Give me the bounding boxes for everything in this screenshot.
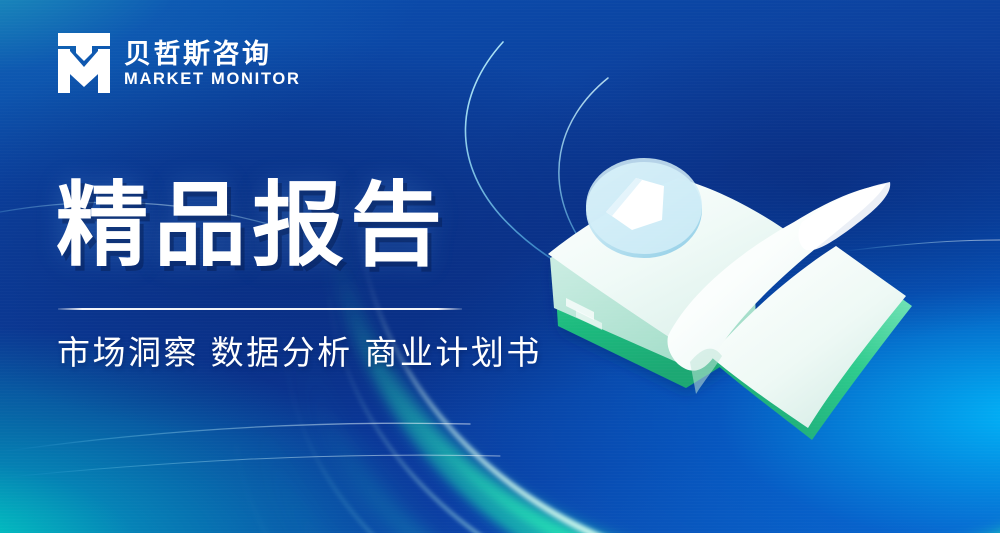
page-title: 精品报告 bbox=[56, 178, 448, 276]
brand-name-en: MARKET MONITOR bbox=[124, 71, 301, 88]
report-banner: 贝哲斯咨询 MARKET MONITOR 精品报告 市场洞察 数据分析 商业计划… bbox=[0, 0, 1000, 533]
brand-name-cn: 贝哲斯咨询 bbox=[124, 40, 301, 68]
brand-logo-text: 贝哲斯咨询 MARKET MONITOR bbox=[124, 38, 301, 89]
brand-logo: 贝哲斯咨询 MARKET MONITOR bbox=[58, 33, 301, 93]
market-monitor-m-logo-icon bbox=[58, 33, 110, 93]
page-subtitle: 市场洞察 数据分析 商业计划书 bbox=[57, 332, 542, 375]
title-divider bbox=[58, 308, 462, 310]
